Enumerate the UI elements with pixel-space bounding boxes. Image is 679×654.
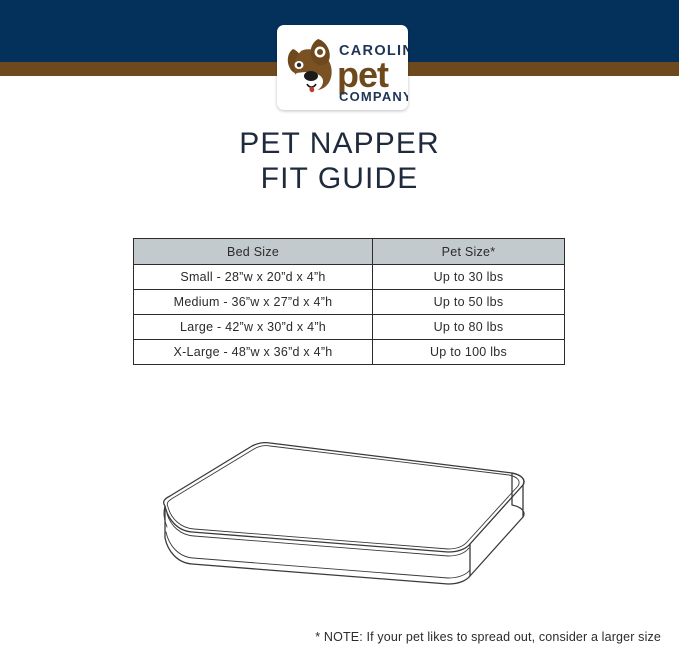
cell-pet-size-small: Up to 30 lbs — [373, 265, 565, 290]
carolina-pet-company-logo: CAROLINA pet COMPANY — [277, 25, 408, 110]
page-title-line-2: FIT GUIDE — [0, 161, 679, 196]
cell-pet-size-xlarge: Up to 100 lbs — [373, 340, 565, 365]
bed-right-lower-seam — [470, 517, 523, 576]
cell-pet-size-medium: Up to 50 lbs — [373, 290, 565, 315]
table-header-row: Bed Size Pet Size* — [134, 239, 565, 265]
column-header-bed-size: Bed Size — [134, 239, 373, 265]
bed-right-edge-seam — [470, 485, 523, 544]
page-title: PET NAPPER FIT GUIDE — [0, 126, 679, 196]
table-row: Large - 42”w x 30”d x 4”h Up to 80 lbs — [134, 315, 565, 340]
table-row: Medium - 36”w x 27”d x 4”h Up to 50 lbs — [134, 290, 565, 315]
bed-top-face — [164, 443, 524, 552]
column-header-pet-size: Pet Size* — [373, 239, 565, 265]
cell-bed-size-large: Large - 42”w x 30”d x 4”h — [134, 315, 373, 340]
bed-top-seam — [167, 446, 519, 549]
footnote-note: * NOTE: If your pet likes to spread out,… — [315, 630, 661, 644]
cell-bed-size-medium: Medium - 36”w x 27”d x 4”h — [134, 290, 373, 315]
logo-text-company: COMPANY — [339, 89, 408, 104]
logo-artwork: CAROLINA pet COMPANY — [277, 25, 408, 110]
table-row: X-Large - 48”w x 36”d x 4”h Up to 100 lb… — [134, 340, 565, 365]
cell-bed-size-small: Small - 28”w x 20”d x 4”h — [134, 265, 373, 290]
pet-bed-illustration — [140, 428, 540, 593]
fit-guide-table: Bed Size Pet Size* Small - 28”w x 20”d x… — [133, 238, 565, 365]
cell-pet-size-large: Up to 80 lbs — [373, 315, 565, 340]
table-row: Small - 28”w x 20”d x 4”h Up to 30 lbs — [134, 265, 565, 290]
dog-head-icon — [288, 39, 332, 93]
fit-guide-table-body: Bed Size Pet Size* Small - 28”w x 20”d x… — [134, 239, 565, 365]
cell-bed-size-xlarge: X-Large - 48”w x 36”d x 4”h — [134, 340, 373, 365]
page-title-line-1: PET NAPPER — [0, 126, 679, 161]
bed-front-panel — [165, 506, 470, 584]
pet-bed-line-art — [140, 428, 540, 593]
